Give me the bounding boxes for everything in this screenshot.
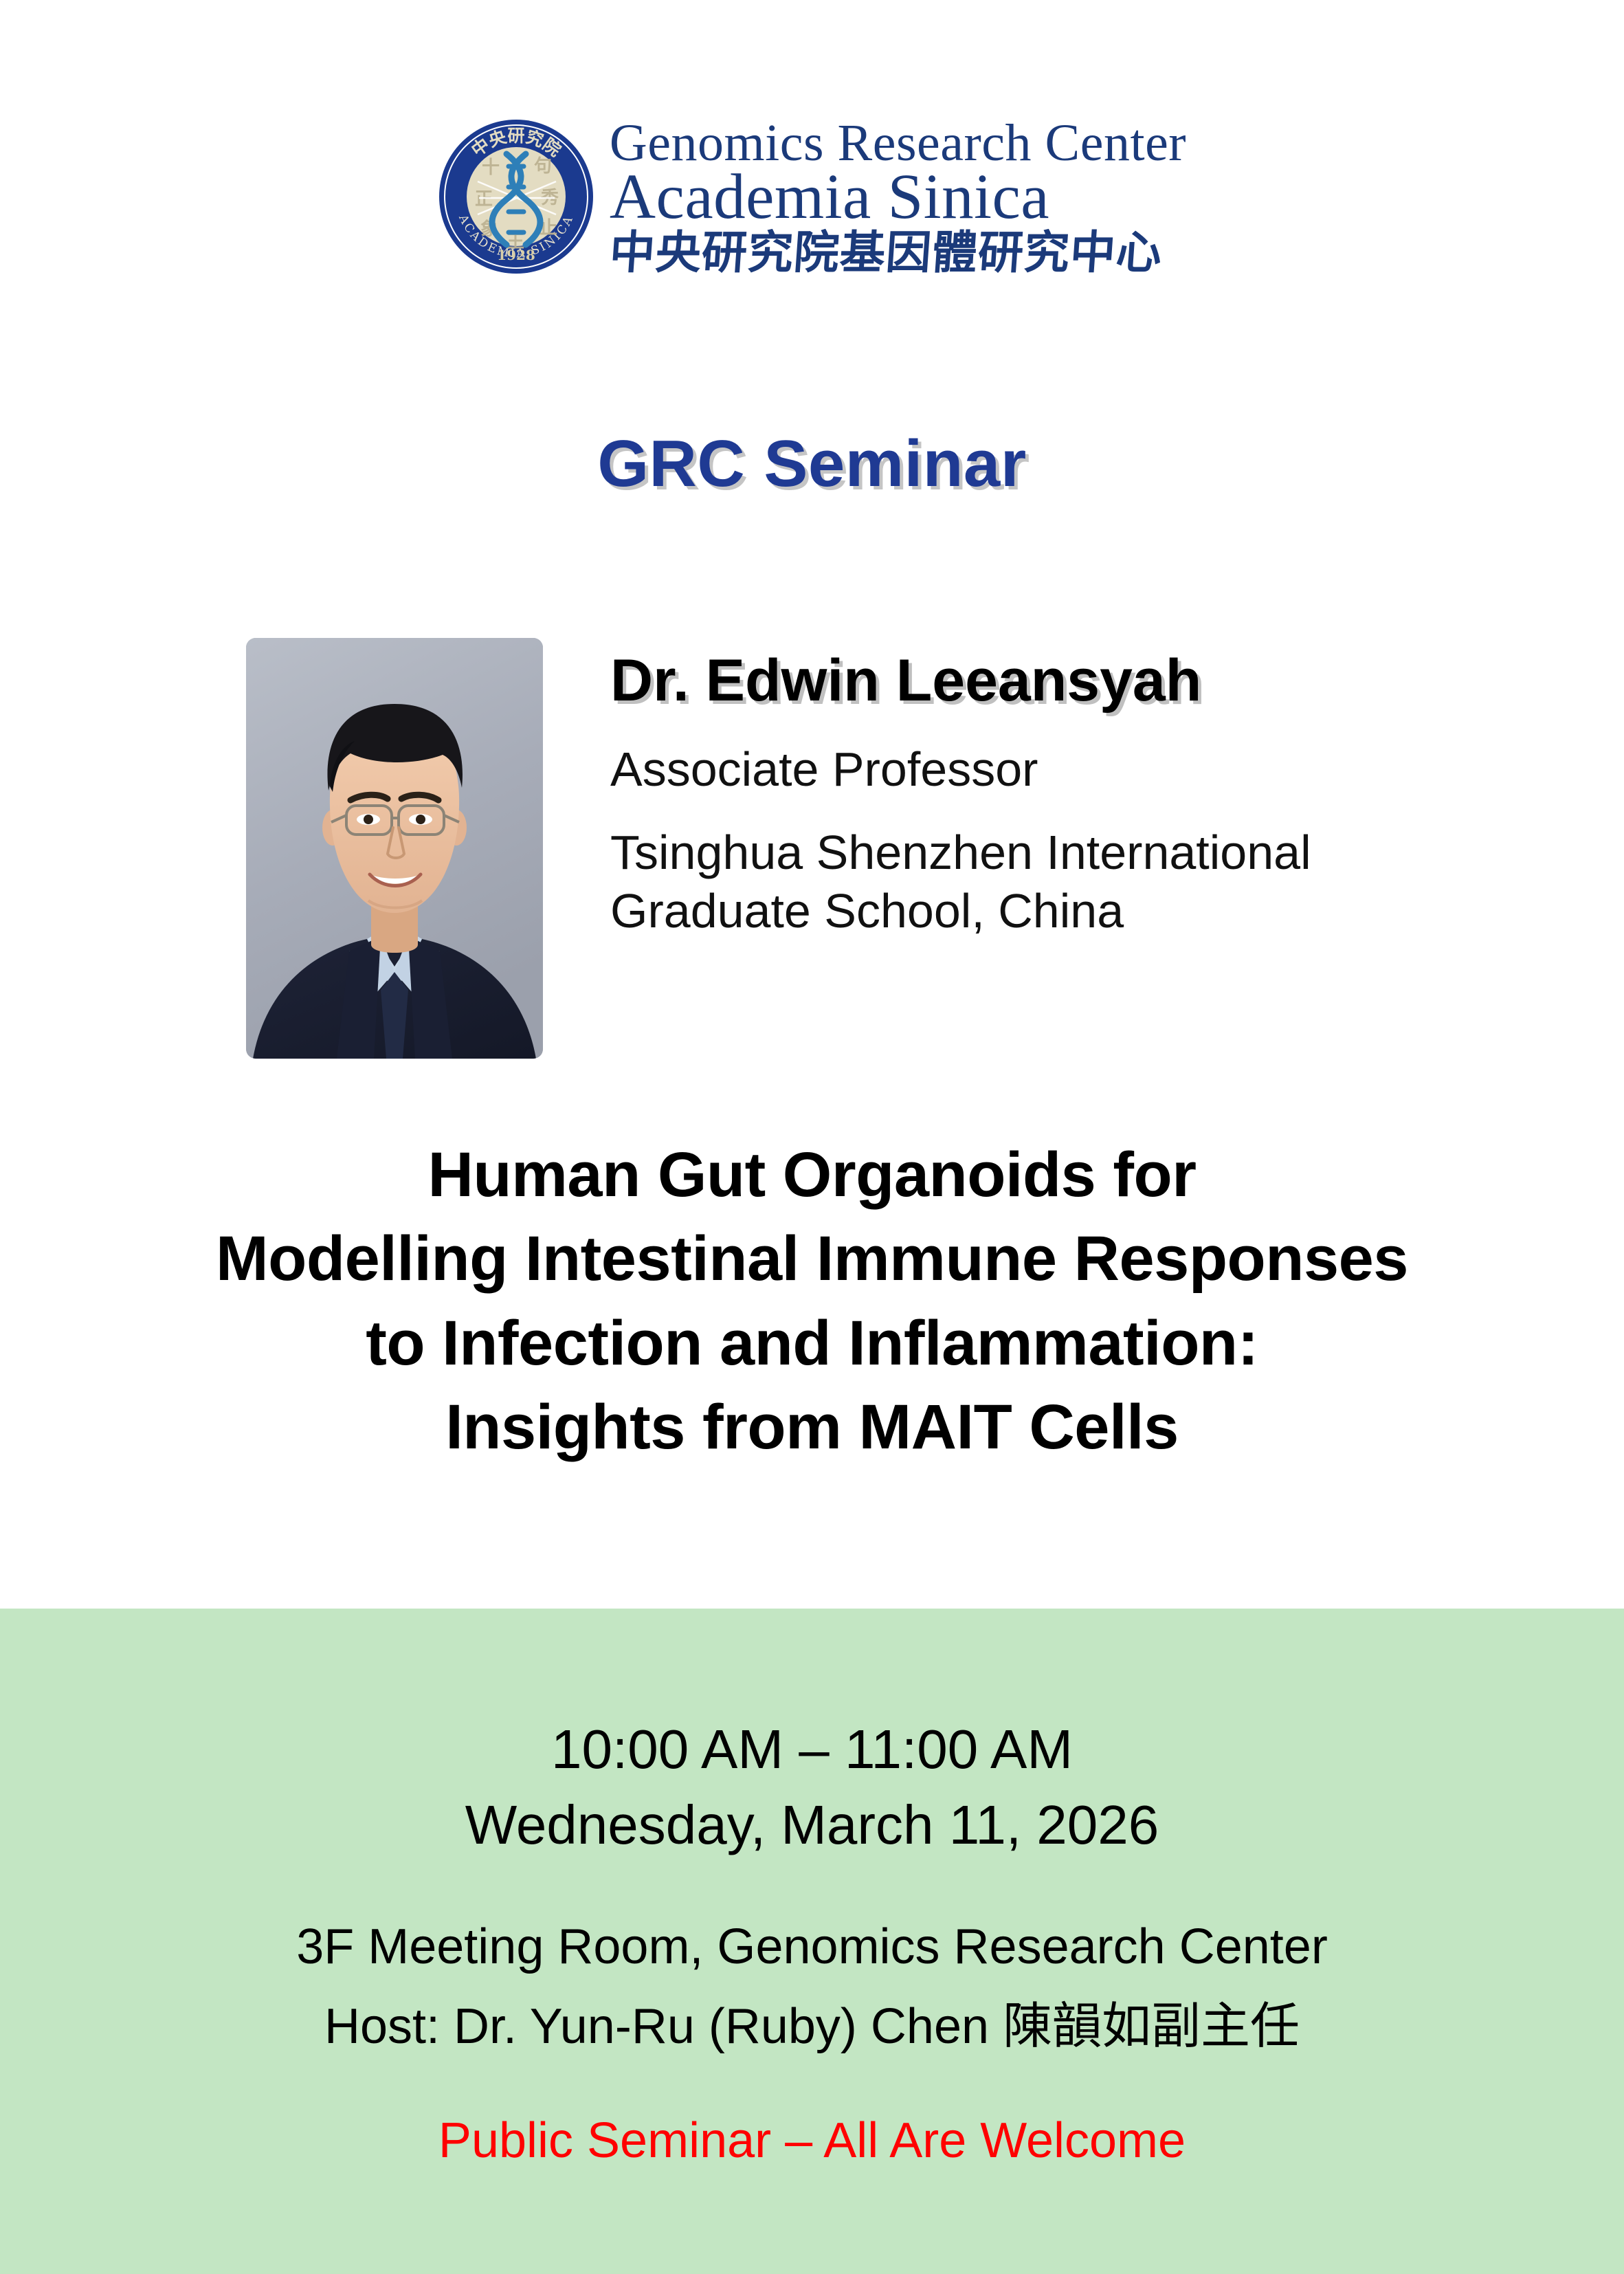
speaker-affiliation-line-1: Tsinghua Shenzhen International <box>610 824 1559 882</box>
svg-text:十: 十 <box>482 157 500 178</box>
speaker-affiliation-line-2: Graduate School, China <box>610 882 1559 940</box>
logo-text-english-institution: Academia Sinica <box>610 165 1186 229</box>
seminar-title-line-4: Insights from MAIT Cells <box>0 1385 1624 1469</box>
page-title: GRC Seminar <box>0 426 1624 502</box>
seminar-title: Human Gut Organoids for Modelling Intest… <box>0 1133 1624 1469</box>
seminar-title-line-3: to Infection and Inflammation: <box>0 1301 1624 1385</box>
seminar-time: 10:00 AM – 11:00 AM <box>0 1712 1624 1787</box>
svg-text:1928: 1928 <box>497 247 535 263</box>
seminar-title-line-1: Human Gut Organoids for <box>0 1133 1624 1217</box>
speaker-photo <box>246 638 543 1059</box>
seminar-datetime: 10:00 AM – 11:00 AM Wednesday, March 11,… <box>0 1712 1624 1862</box>
svg-text:正: 正 <box>475 189 493 210</box>
logo-text-chinese: 中央研究院基因體研究中心 <box>608 230 1188 276</box>
speaker-affiliation: Tsinghua Shenzhen International Graduate… <box>610 824 1559 941</box>
seminar-host: Host: Dr. Yun-Ru (Ruby) Chen 陳韻如副主任 <box>0 2002 1624 2051</box>
seminar-title-line-2: Modelling Intestinal Immune Responses <box>0 1217 1624 1301</box>
speaker-role: Associate Professor <box>610 742 1559 797</box>
speaker-name: Dr. Edwin Leeansyah <box>610 650 1559 711</box>
organization-logo: 中央研究院 ACADEMIA SINICA 十 句 正 秀 象 止 王 <box>0 117 1624 276</box>
seminar-poster: 中央研究院 ACADEMIA SINICA 十 句 正 秀 象 止 王 <box>0 0 1624 2274</box>
seminar-venue: 3F Meeting Room, Genomics Research Cente… <box>0 1922 1624 1972</box>
academia-sinica-seal-icon: 中央研究院 ACADEMIA SINICA 十 句 正 秀 象 止 王 <box>438 118 594 275</box>
seminar-date: Wednesday, March 11, 2026 <box>0 1787 1624 1863</box>
speaker-info: Dr. Edwin Leeansyah Associate Professor … <box>610 650 1559 941</box>
public-seminar-notice: Public Seminar – All Are Welcome <box>0 2116 1624 2165</box>
svg-text:句: 句 <box>534 156 552 177</box>
